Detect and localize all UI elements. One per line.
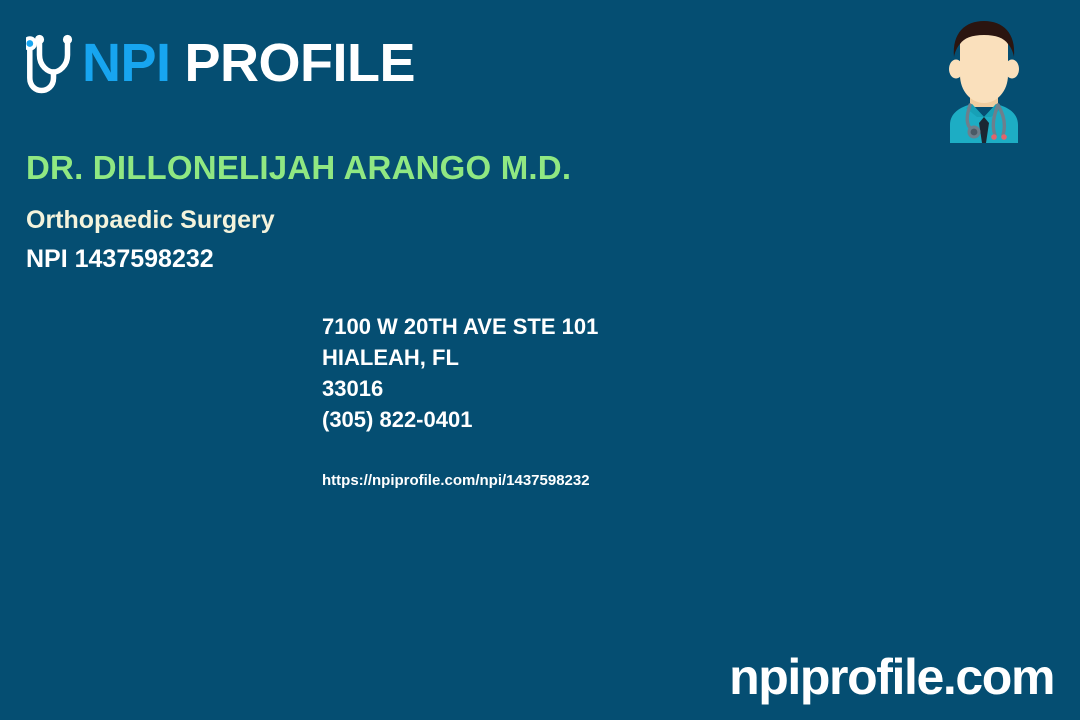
practice-phone: (305) 822-0401 <box>322 404 598 435</box>
site-logo[interactable]: NPIPROFILE <box>26 26 415 98</box>
logo-profile-text: PROFILE <box>185 33 416 93</box>
address-zip: 33016 <box>322 373 598 404</box>
doctor-avatar <box>920 13 1048 143</box>
provider-npi-number: NPI 1437598232 <box>26 245 214 274</box>
logo-npi-text: NPI <box>82 33 171 93</box>
npi-profile-card: NPIPROFILE <box>0 0 1080 720</box>
practice-address: 7100 W 20TH AVE STE 101 HIALEAH, FL 3301… <box>322 311 598 435</box>
stethoscope-icon <box>26 29 80 95</box>
footer-brand[interactable]: npiprofile.com <box>729 652 1054 702</box>
address-city-state: HIALEAH, FL <box>322 342 598 373</box>
provider-specialty: Orthopaedic Surgery <box>26 206 275 235</box>
address-street: 7100 W 20TH AVE STE 101 <box>322 311 598 342</box>
logo-text: NPIPROFILE <box>82 36 415 90</box>
provider-name: DR. DILLONELIJAH ARANGO M.D. <box>26 150 571 186</box>
profile-url-link[interactable]: https://npiprofile.com/npi/1437598232 <box>322 473 590 490</box>
doctor-avatar-icon <box>920 13 1048 143</box>
